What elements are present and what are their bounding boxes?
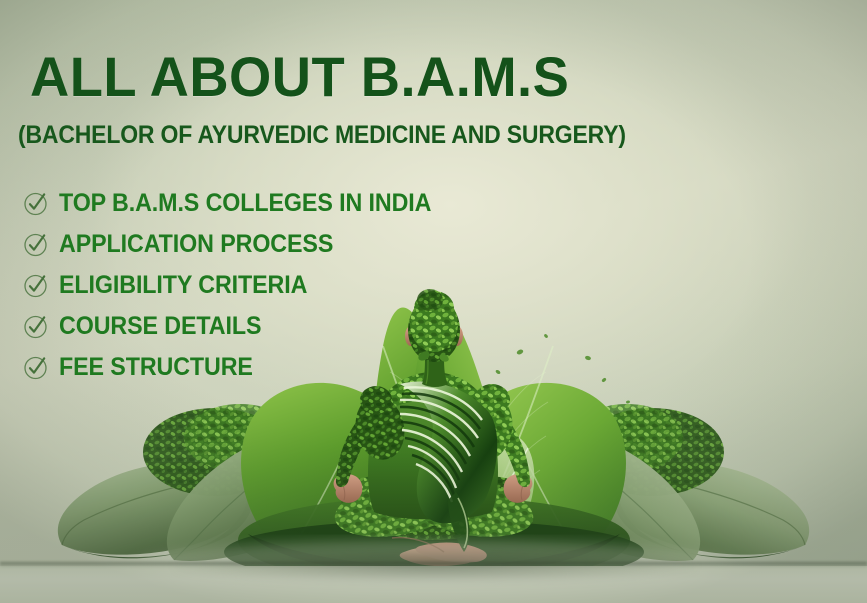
check-circle-icon [22, 353, 50, 381]
list-item[interactable]: ELIGIBILITY CRITERIA [22, 264, 459, 305]
list-item[interactable]: TOP B.A.M.S COLLEGES IN INDIA [22, 182, 459, 223]
list-item-label: FEE STRUCTURE [59, 353, 253, 381]
list-item-label: APPLICATION PROCESS [59, 230, 333, 258]
page-subtitle: (BACHELOR OF AYURVEDIC MEDICINE AND SURG… [18, 120, 626, 150]
list-item[interactable]: COURSE DETAILS [22, 305, 459, 346]
check-circle-icon [22, 189, 50, 217]
poster: ALL ABOUT B.A.M.S (BACHELOR OF AYURVEDIC… [0, 0, 867, 603]
check-circle-icon [22, 230, 50, 258]
page-title: ALL ABOUT B.A.M.S [30, 48, 569, 106]
list-item-label: TOP B.A.M.S COLLEGES IN INDIA [59, 189, 431, 217]
check-circle-icon [22, 271, 50, 299]
list-item[interactable]: FEE STRUCTURE [22, 346, 459, 387]
feature-list: TOP B.A.M.S COLLEGES IN INDIA APPLICATIO… [22, 182, 459, 387]
check-circle-icon [22, 312, 50, 340]
list-item-label: ELIGIBILITY CRITERIA [59, 271, 307, 299]
list-item[interactable]: APPLICATION PROCESS [22, 223, 459, 264]
headline-block: ALL ABOUT B.A.M.S (BACHELOR OF AYURVEDIC… [0, 0, 620, 400]
list-item-label: COURSE DETAILS [59, 312, 261, 340]
figure-ground-shadow [175, 548, 695, 582]
